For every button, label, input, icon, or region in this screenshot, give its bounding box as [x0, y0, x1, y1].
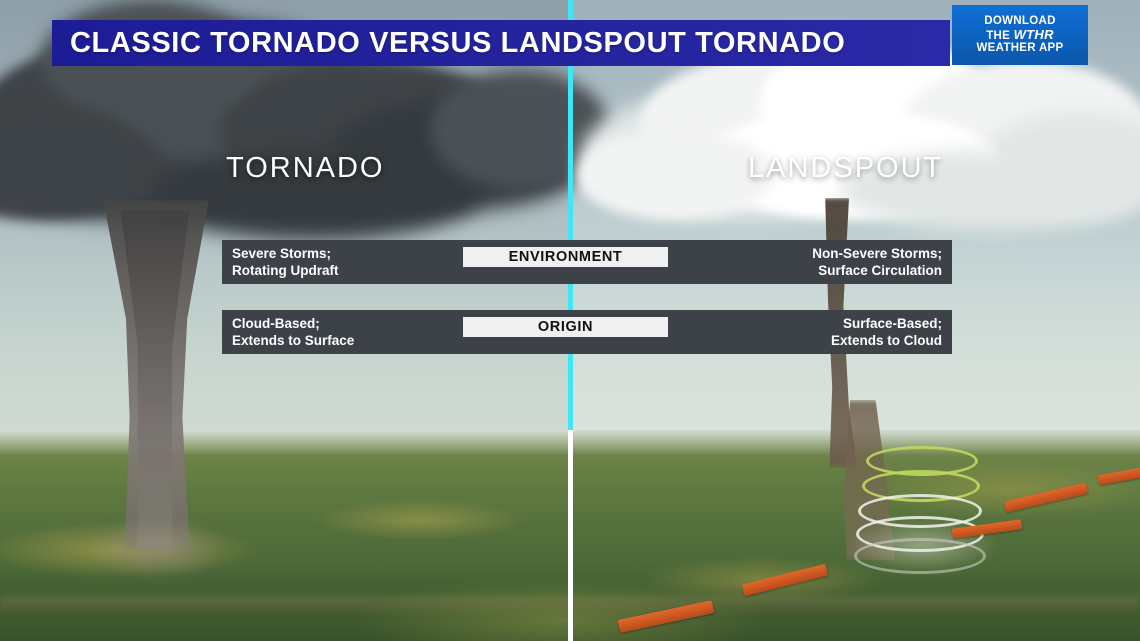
- download-app-badge[interactable]: DOWNLOAD THE WTHR WEATHER APP: [952, 5, 1088, 65]
- comparison-row-origin: Cloud-Based; Extends to Surface ORIGIN S…: [222, 310, 952, 354]
- row1-right-text: Non-Severe Storms; Surface Circulation: [812, 245, 942, 280]
- app-badge-brand: WTHR: [1014, 27, 1054, 42]
- row2-left-line2: Extends to Surface: [232, 332, 354, 349]
- row1-left-line2: Rotating Updraft: [232, 262, 338, 279]
- title-banner: CLASSIC TORNADO VERSUS LANDSPOUT TORNADO: [52, 20, 950, 66]
- row2-chip: ORIGIN: [463, 317, 668, 337]
- row2-right-line2: Extends to Cloud: [831, 332, 942, 349]
- tornado-debris-cloud: [88, 520, 228, 580]
- row2-right-line1: Surface-Based;: [831, 315, 942, 332]
- center-divider-lower: [568, 430, 573, 641]
- comparison-row-environment: Severe Storms; Rotating Updraft ENVIRONM…: [222, 240, 952, 284]
- label-landspout: LANDSPOUT: [748, 152, 943, 185]
- label-tornado: TORNADO: [226, 152, 384, 185]
- row2-right-text: Surface-Based; Extends to Cloud: [831, 315, 942, 350]
- app-badge-line2: THE WTHR: [986, 28, 1054, 43]
- row1-left-line1: Severe Storms;: [232, 245, 338, 262]
- row1-right-line1: Non-Severe Storms;: [812, 245, 942, 262]
- weather-graphic: CLASSIC TORNADO VERSUS LANDSPOUT TORNADO…: [0, 0, 1140, 641]
- page-title: CLASSIC TORNADO VERSUS LANDSPOUT TORNADO: [52, 27, 845, 60]
- row1-right-line2: Surface Circulation: [812, 262, 942, 279]
- row2-left-line1: Cloud-Based;: [232, 315, 354, 332]
- row2-left-text: Cloud-Based; Extends to Surface: [232, 315, 354, 350]
- app-badge-the: THE: [986, 30, 1010, 42]
- row1-left-text: Severe Storms; Rotating Updraft: [232, 245, 338, 280]
- app-badge-line3: WEATHER APP: [977, 42, 1064, 55]
- row1-chip: ENVIRONMENT: [463, 247, 668, 267]
